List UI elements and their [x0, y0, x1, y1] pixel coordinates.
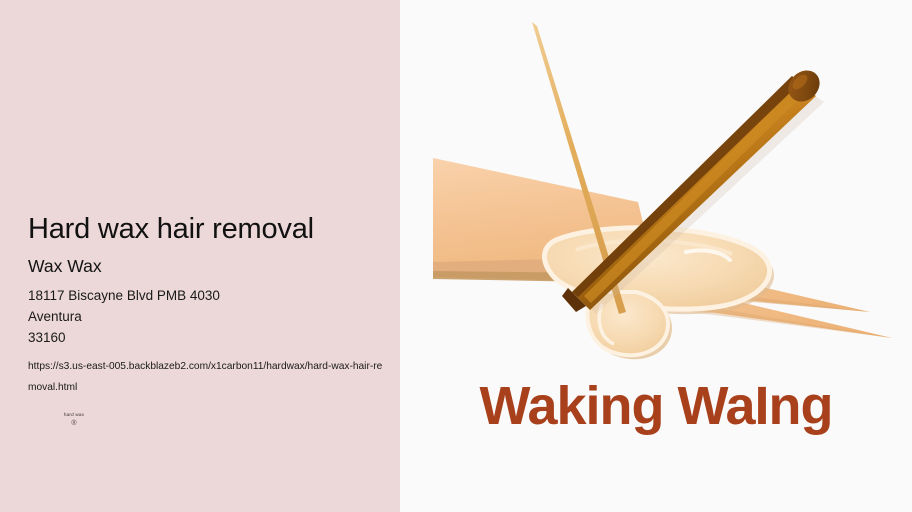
business-info-block: Hard wax hair removal Wax Wax 18117 Bisc… [28, 212, 394, 398]
address-line-street: 18117 Biscayne Blvd PMB 4030 [28, 285, 394, 306]
brand-logo-text: Waking WaIng [480, 376, 833, 436]
info-panel: Hard wax hair removal Wax Wax 18117 Bisc… [0, 0, 400, 512]
address-line-city: Aventura [28, 306, 394, 327]
watermark-label: hard wax [44, 411, 104, 418]
page-url[interactable]: https://s3.us-east-005.backblazeb2.com/x… [28, 356, 390, 398]
business-name: Wax Wax [28, 256, 394, 277]
address-line-postal-code: 33160 [28, 327, 394, 348]
page-title: Hard wax hair removal [28, 212, 394, 246]
page-root: Hard wax hair removal Wax Wax 18117 Bisc… [0, 0, 912, 512]
hard-wax-illustration: Waking WaIng [400, 0, 912, 512]
illustration-panel: Waking WaIng [400, 0, 912, 512]
registered-mark-icon: ® [44, 420, 104, 428]
watermark: hard wax ® [44, 411, 104, 428]
